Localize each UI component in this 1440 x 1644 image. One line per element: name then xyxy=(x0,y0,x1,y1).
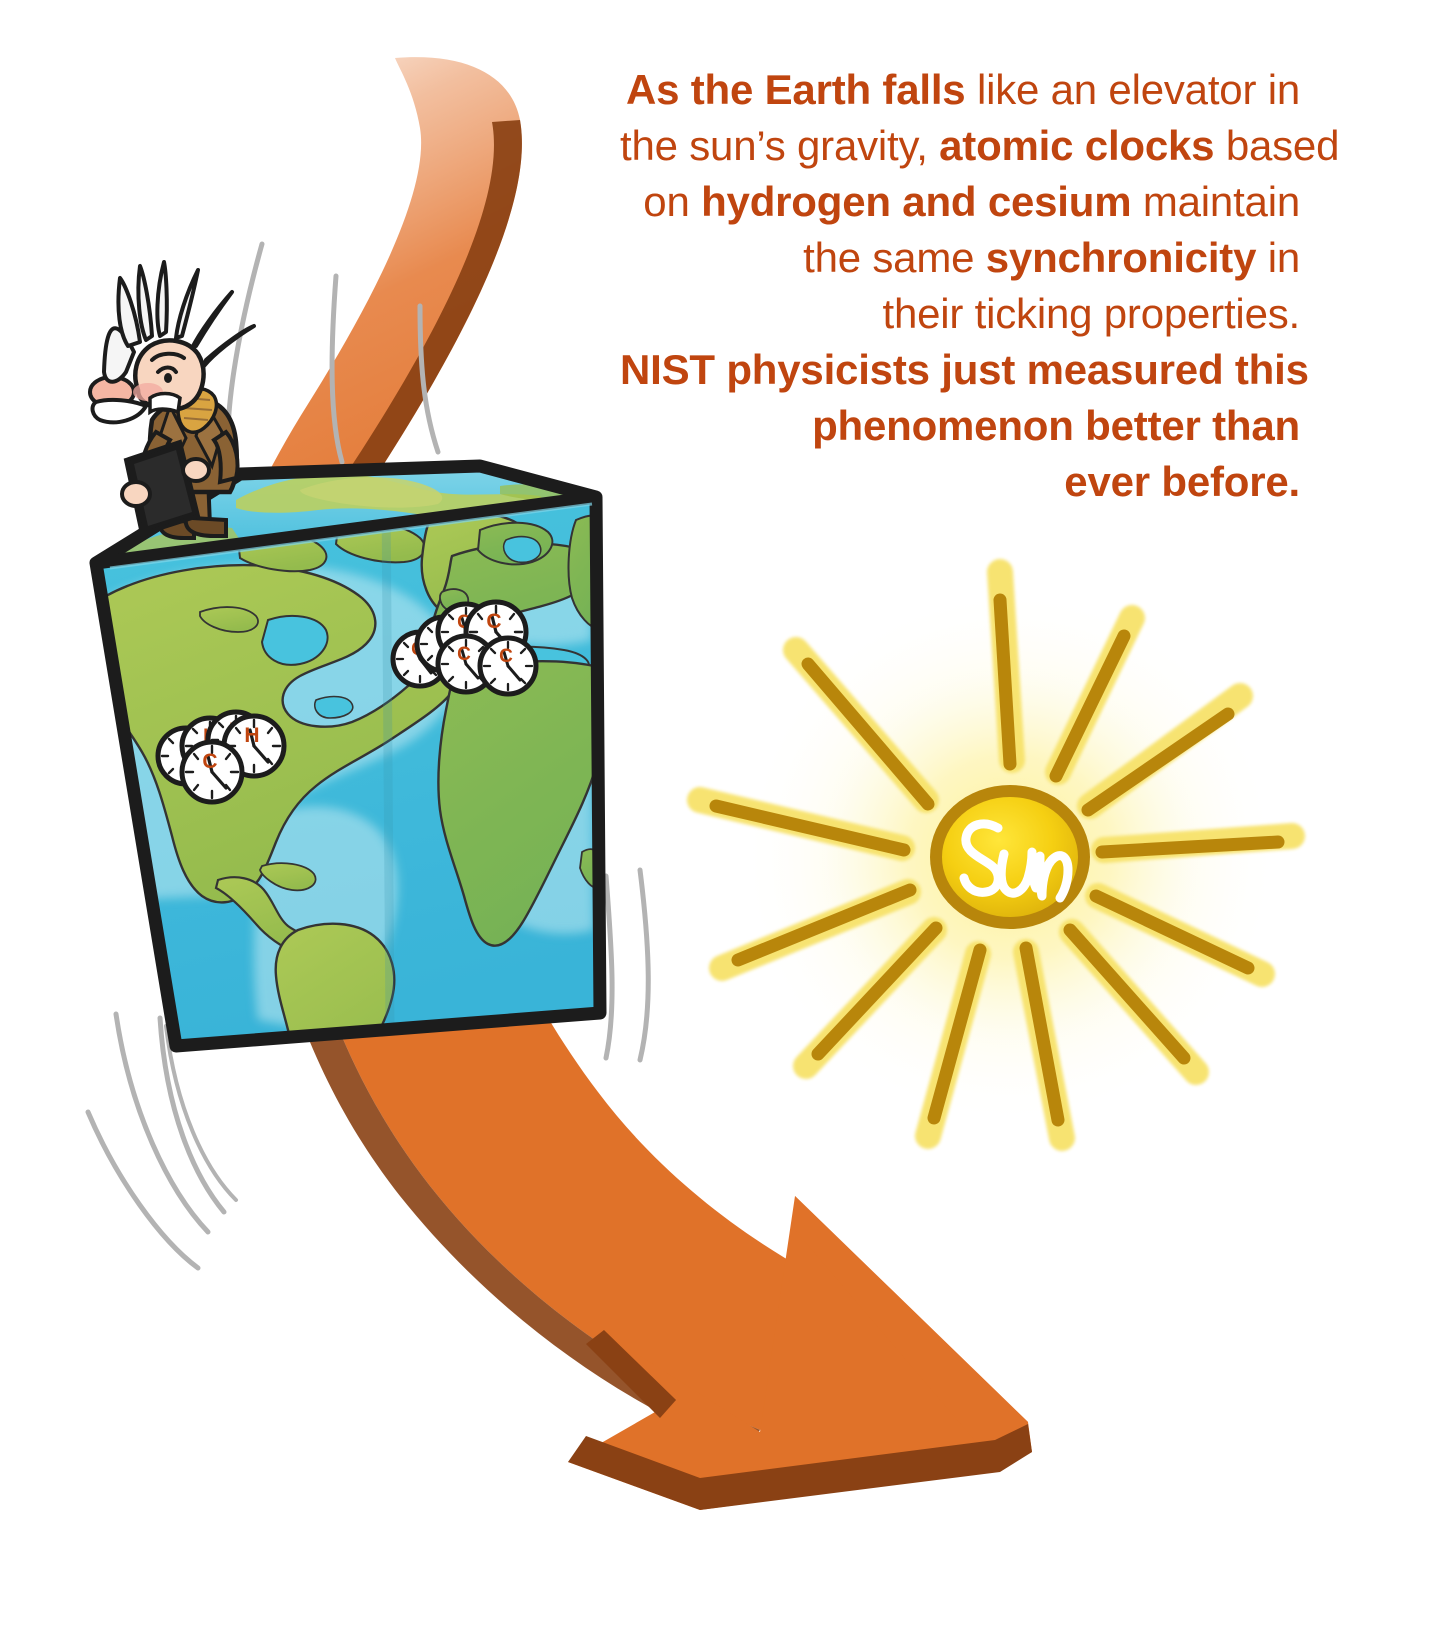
scientist-hand-left xyxy=(122,482,150,506)
clock-us-5: C xyxy=(182,742,242,802)
caption-seg: hydrogen and cesium xyxy=(701,178,1131,225)
headline-caption: As the Earth falls like an elevator in t… xyxy=(620,62,1300,511)
caption-line-4: the same synchronicity in xyxy=(620,230,1300,286)
speed-line-right-2 xyxy=(640,870,648,1060)
caption-line-3: on hydrogen and cesium maintain xyxy=(620,174,1300,230)
caption-seg: their ticking properties. xyxy=(882,290,1300,337)
caption-seg: maintain xyxy=(1131,178,1300,225)
scientist-pupil xyxy=(164,373,172,383)
infographic-canvas: H H xyxy=(0,0,1440,1644)
caption-seg: As the Earth falls xyxy=(626,66,966,113)
caption-line-2: the sun’s gravity, atomic clocks based xyxy=(620,118,1300,174)
scientist-hand-right xyxy=(183,459,209,481)
clock-eu-6: C xyxy=(480,638,536,694)
clock-letter: H xyxy=(244,724,259,747)
clock-letter: C xyxy=(202,750,217,773)
caption-seg: synchronicity xyxy=(986,234,1256,281)
caption-line-7: phenomenon better than xyxy=(620,398,1300,454)
scientist-shoe-right xyxy=(186,518,226,536)
caption-line-5: their ticking properties. xyxy=(620,286,1300,342)
caption-seg: like an elevator in xyxy=(965,66,1300,113)
caption-seg: the same xyxy=(803,234,986,281)
sun-graphic xyxy=(700,572,1292,1138)
scientist-collar xyxy=(150,394,180,413)
earth-cube xyxy=(96,466,600,1116)
clock-letter: C xyxy=(486,610,501,633)
caption-line-8: ever before. xyxy=(620,454,1300,510)
scientist-moustache xyxy=(93,400,146,422)
caption-seg: atomic clocks xyxy=(939,122,1214,169)
caption-seg: in xyxy=(1256,234,1300,281)
caption-line-1: As the Earth falls like an elevator in xyxy=(620,62,1300,118)
caption-seg: on xyxy=(643,178,701,225)
speed-line-right-1 xyxy=(606,876,612,1058)
caption-seg: based xyxy=(1214,122,1339,169)
caption-seg: the sun’s gravity, xyxy=(620,122,939,169)
clock-letter: C xyxy=(457,644,471,665)
caption-line-6: NIST physicists just measured this xyxy=(620,342,1300,398)
clock-letter: C xyxy=(499,646,513,667)
